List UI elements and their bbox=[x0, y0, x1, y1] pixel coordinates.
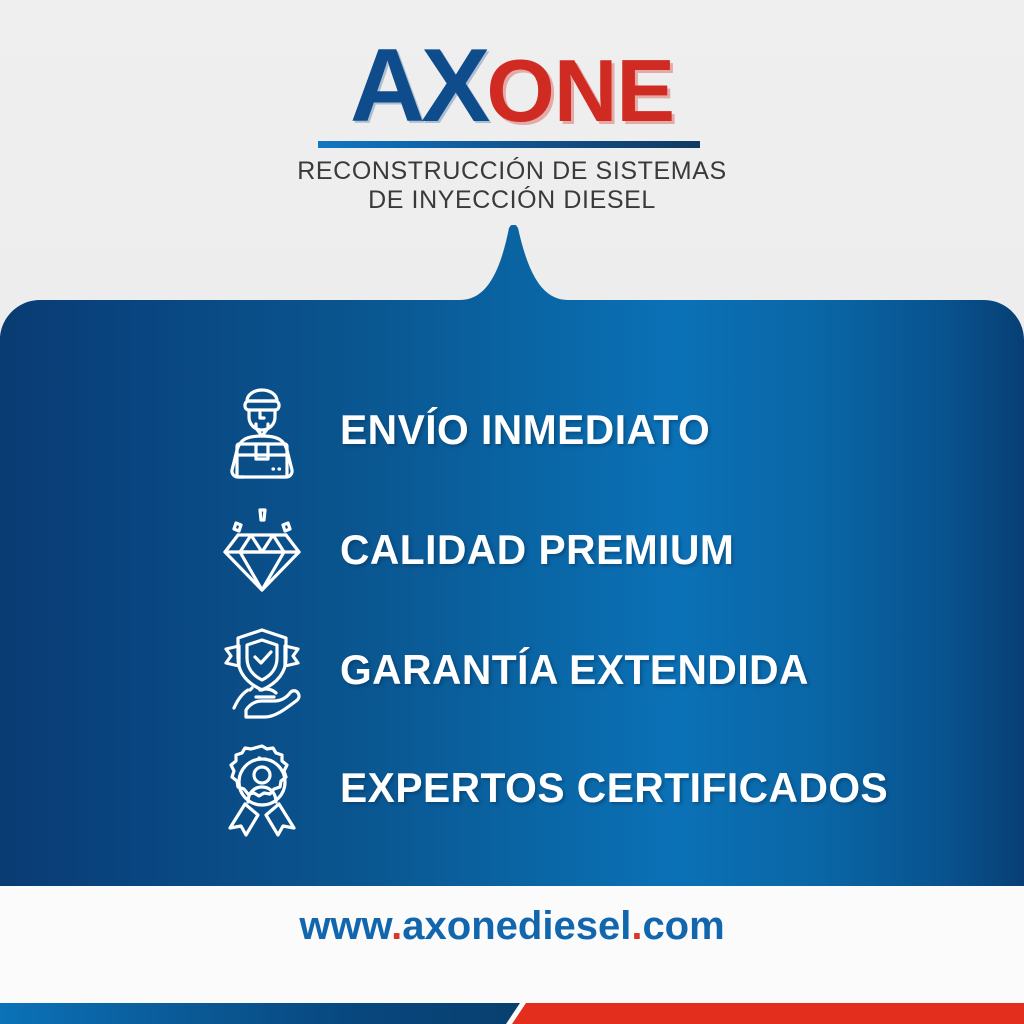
feature-label: CALIDAD PREMIUM bbox=[340, 526, 734, 574]
logo-text-ax: AX bbox=[350, 28, 486, 144]
feature-item-expertos-certificados: EXPERTOS CERTIFICADOS bbox=[210, 733, 905, 843]
feature-label: EXPERTOS CERTIFICADOS bbox=[340, 764, 888, 812]
feature-item-calidad-premium: CALIDAD PREMIUM bbox=[210, 495, 746, 605]
brand-header: AXONE RECONSTRUCCIÓN DE SISTEMAS DE INYE… bbox=[0, 0, 1024, 230]
features-list: ENVÍO INMEDIATO bbox=[0, 225, 1024, 886]
url-tld: com bbox=[642, 904, 724, 948]
award-rosette-person-icon bbox=[210, 736, 314, 840]
logo-divider-rule bbox=[318, 141, 700, 148]
logo-wordmark: AXONE bbox=[0, 36, 1024, 136]
website-url[interactable]: www.axonediesel.com bbox=[0, 904, 1024, 949]
delivery-person-box-icon bbox=[210, 378, 314, 482]
diamond-gem-icon bbox=[210, 498, 314, 602]
tagline-line-1: RECONSTRUCCIÓN DE SISTEMAS bbox=[0, 157, 1024, 186]
feature-item-garantia-extendida: GARANTÍA EXTENDIDA bbox=[210, 615, 823, 725]
tagline-line-2: DE INYECCIÓN DIESEL bbox=[0, 186, 1024, 215]
shield-check-in-hand-icon bbox=[210, 618, 314, 722]
logo-text-one: ONE bbox=[486, 41, 674, 140]
bottom-accent-bar bbox=[0, 1003, 1024, 1024]
feature-item-envio-inmediato: ENVÍO INMEDIATO bbox=[210, 375, 722, 485]
feature-label: ENVÍO INMEDIATO bbox=[340, 406, 710, 454]
url-domain: axonediesel bbox=[402, 904, 631, 948]
promo-poster: AXONE RECONSTRUCCIÓN DE SISTEMAS DE INYE… bbox=[0, 0, 1024, 1024]
feature-label: GARANTÍA EXTENDIDA bbox=[340, 646, 809, 694]
url-dot-2: . bbox=[631, 904, 642, 948]
url-prefix: www bbox=[299, 904, 391, 948]
url-dot-1: . bbox=[391, 904, 402, 948]
